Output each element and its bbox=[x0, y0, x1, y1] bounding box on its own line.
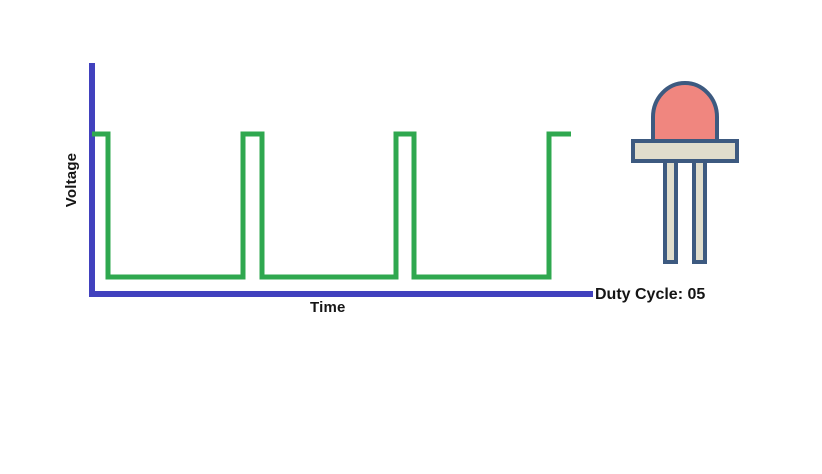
waveform-plot bbox=[0, 0, 610, 330]
led-leg-right-icon bbox=[694, 158, 705, 262]
x-axis-label: Time bbox=[310, 299, 346, 316]
duty-cycle-label: Duty Cycle: bbox=[595, 286, 687, 304]
led-indicator bbox=[625, 60, 745, 275]
diagram-canvas: Voltage Time Duty Cycle: 05 bbox=[0, 0, 822, 474]
duty-cycle-value: 05 bbox=[687, 286, 705, 304]
y-axis-label: Voltage bbox=[31, 167, 111, 193]
led-leg-left-icon bbox=[665, 158, 676, 262]
duty-cycle-readout: Duty Cycle: 05 bbox=[595, 286, 705, 304]
pwm-waveform-trace bbox=[92, 134, 571, 277]
led-flange-icon bbox=[633, 141, 737, 161]
